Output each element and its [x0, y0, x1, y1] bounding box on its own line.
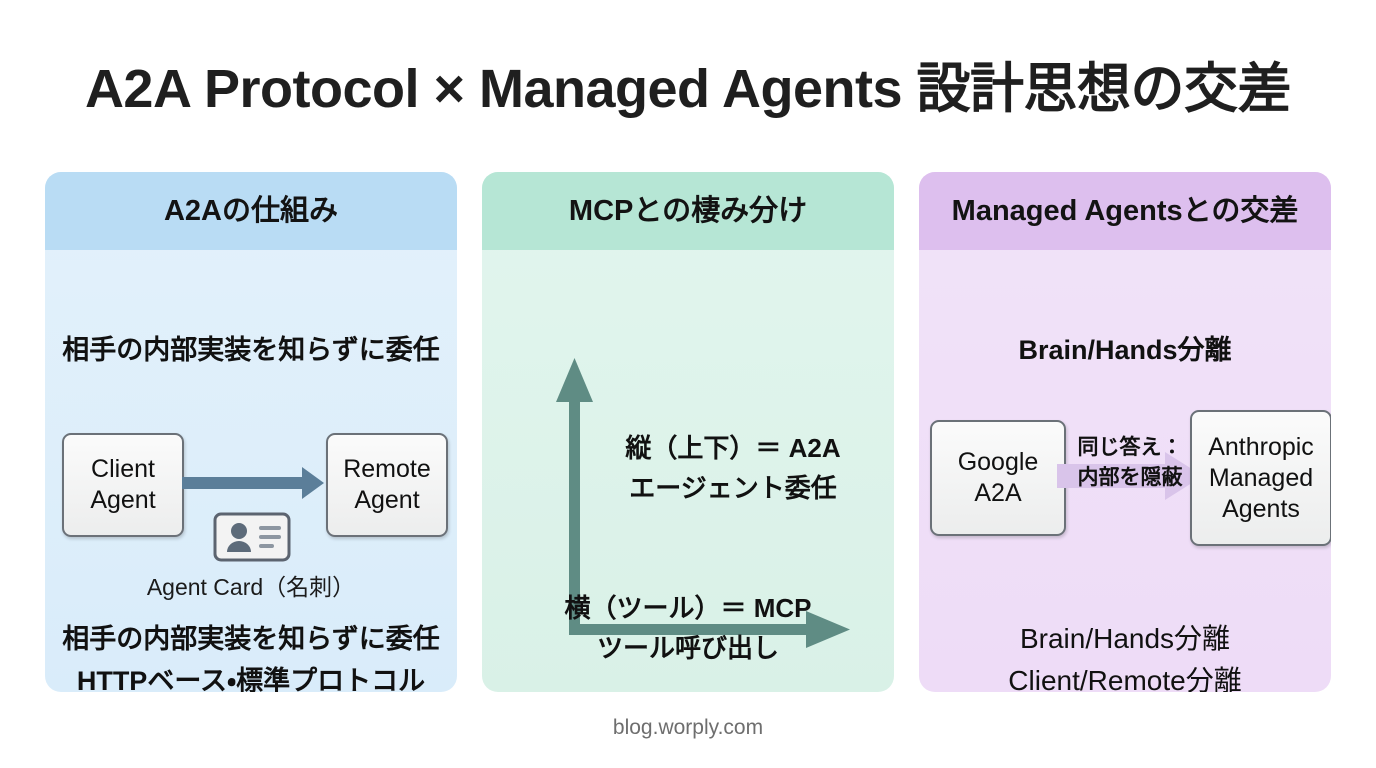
client-agent-label: Client Agent	[90, 454, 155, 516]
panel-managed-footer-text: Brain/Hands分離 Client/Remote分離	[919, 618, 1331, 692]
panel-a2a-footer-text: 相手の内部実装を知らずに委任 HTTPベース・標準プロトコル	[45, 618, 457, 692]
remote-agent-node[interactable]: Remote Agent	[326, 433, 448, 537]
panel-mcp-separation: MCPとの棲み分け 縦（上下）＝ A2A エージェント委任 横（ツール）＝ MC…	[482, 172, 894, 692]
panel-a2a-mechanism: A2Aの仕組み 相手の内部実装を知らずに委任 Client Agent Remo…	[45, 172, 457, 692]
client-agent-node[interactable]: Client Agent	[62, 433, 184, 537]
panel-managed-lead-text: Brain/Hands分離	[919, 328, 1331, 367]
client-to-remote-arrow-icon	[182, 477, 304, 489]
panel-mcp-header: MCPとの棲み分け	[482, 172, 894, 250]
mcp-horizontal-note: 横（ツール）＝ MCP ツール呼び出し	[502, 588, 874, 668]
google-a2a-node[interactable]: Google A2A	[930, 420, 1066, 536]
agent-card-caption: Agent Card（名刺）	[45, 568, 457, 602]
page-title: A2A Protocol × Managed Agents 設計思想の交差	[0, 44, 1376, 123]
panel-managed-agents-intersection: Managed Agentsとの交差 Brain/Hands分離 Google …	[919, 172, 1331, 692]
panel-mcp-body: 縦（上下）＝ A2A エージェント委任 横（ツール）＝ MCP ツール呼び出し	[482, 250, 894, 692]
panel-a2a-header: A2Aの仕組み	[45, 172, 457, 250]
remote-agent-label: Remote Agent	[343, 454, 431, 516]
anthropic-managed-agents-node[interactable]: Anthropic Managed Agents	[1190, 410, 1331, 546]
site-footer: blog.worply.com	[0, 716, 1376, 740]
panel-a2a-body: 相手の内部実装を知らずに委任 Client Agent Remote Agent	[45, 250, 457, 692]
mcp-vertical-note: 縦（上下）＝ A2A エージェント委任	[588, 428, 878, 508]
panel-managed-body: Brain/Hands分離 Google A2A 同じ答え： 内部を隠蔽 Ant…	[919, 250, 1331, 692]
google-a2a-label: Google A2A	[958, 447, 1039, 509]
panel-managed-header: Managed Agentsとの交差	[919, 172, 1331, 250]
anthropic-managed-agents-label: Anthropic Managed Agents	[1208, 432, 1314, 525]
equivalence-arrow-label: 同じ答え： 内部を隠蔽	[1049, 433, 1211, 493]
panel-a2a-lead-text: 相手の内部実装を知らずに委任	[45, 328, 457, 367]
id-card-icon	[213, 512, 291, 562]
